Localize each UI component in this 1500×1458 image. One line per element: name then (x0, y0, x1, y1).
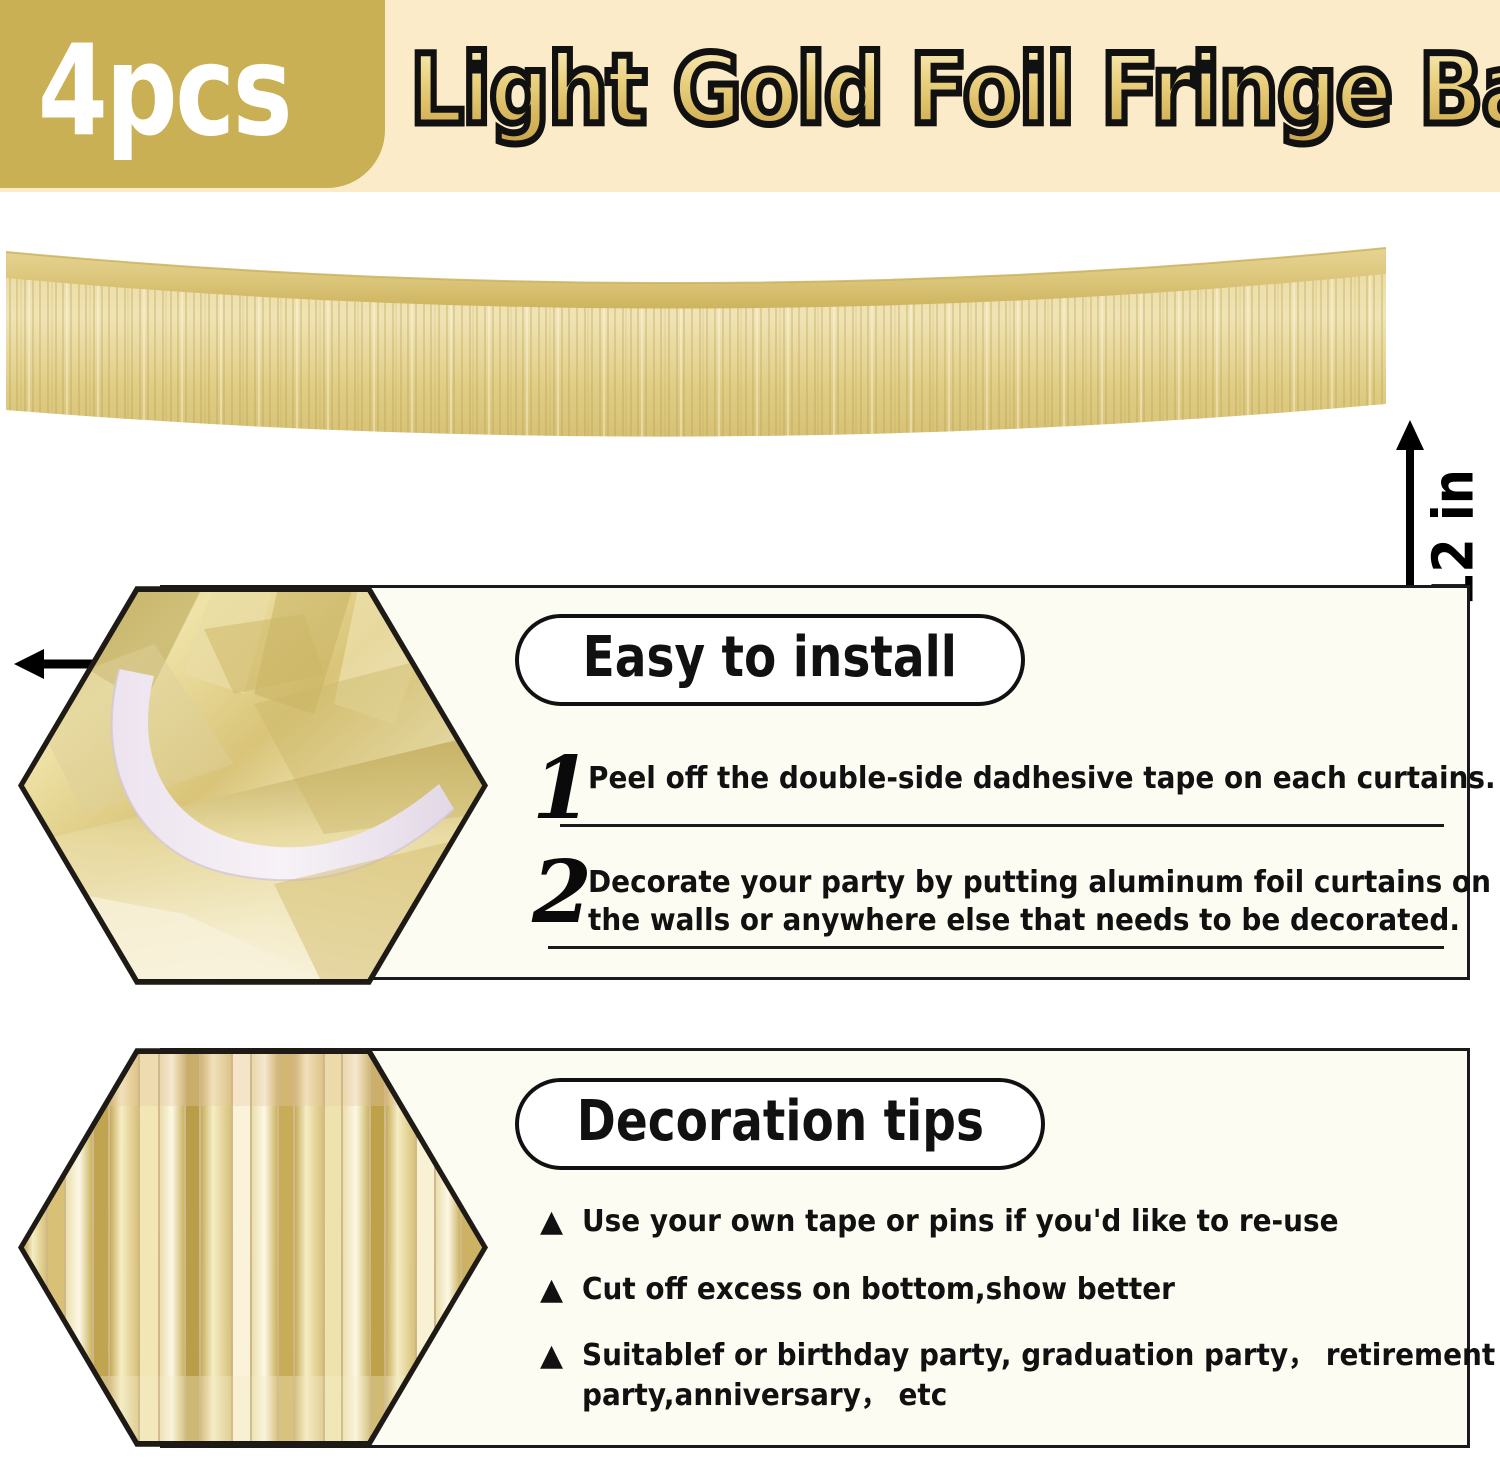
tip-item-3: ▲ Suitablef or birthday party, graduatio… (540, 1336, 1450, 1416)
tips-heading-pill: Decoration tips (515, 1078, 1045, 1170)
triangle-bullet-icon: ▲ (540, 1202, 582, 1242)
install-heading-text: Easy to install (583, 628, 957, 692)
triangle-bullet-icon: ▲ (540, 1270, 582, 1310)
tip-item-1: ▲ Use your own tape or pins if you'd lik… (540, 1202, 1450, 1242)
gold-foil-fringe-garland-image (6, 244, 1386, 449)
install-step-2-body: Decorate your party by putting aluminum … (588, 856, 1500, 940)
garland-illustration (6, 244, 1386, 449)
install-step-2-line-2: the walls or anywhere else that needs to… (588, 902, 1491, 940)
install-step-1-divider (560, 824, 1444, 827)
install-step-1-number: 1 (532, 752, 588, 826)
tip-item-1-line-1: Use your own tape or pins if you'd like … (582, 1202, 1339, 1242)
tip-item-2-body: Cut off excess on bottom,show better (582, 1270, 1220, 1310)
tips-heading-text: Decoration tips (576, 1092, 983, 1156)
tip-item-1-body: Use your own tape or pins if you'd like … (582, 1202, 1395, 1242)
install-step-2-number: 2 (532, 856, 588, 930)
product-image-area: 12 in 10 ft (0, 192, 1500, 562)
install-step-2-divider (548, 946, 1444, 949)
install-step-2-line-1: Decorate your party by putting aluminum … (588, 864, 1491, 902)
install-step-1-line-1: Peel off the double-side dadhesive tape … (588, 760, 1496, 798)
install-heading-pill: Easy to install (515, 614, 1025, 706)
header-banner: 4pcs Light Gold Foil Fringe Banner (0, 0, 1500, 192)
product-title-text: Light Gold Foil Fringe Banner (410, 34, 1500, 146)
tip-item-2-line-1: Cut off excess on bottom,show better (582, 1270, 1175, 1310)
tip-item-2: ▲ Cut off excess on bottom,show better (540, 1270, 1450, 1310)
product-title: Light Gold Foil Fringe Banner (410, 34, 1455, 164)
install-step-1-body: Peel off the double-side dadhesive tape … (588, 752, 1500, 798)
quantity-badge: 4pcs (0, 0, 385, 188)
tip-item-3-line-1: Suitablef or birthday party, graduation … (582, 1336, 1495, 1376)
quantity-badge-label: 4pcs (28, 6, 300, 176)
install-step-2: 2 Decorate your party by putting aluminu… (532, 856, 1442, 940)
triangle-bullet-icon: ▲ (540, 1336, 582, 1376)
tip-item-3-line-2: party,anniversary， etc (582, 1376, 1495, 1416)
tip-item-3-body: Suitablef or birthday party, graduation … (582, 1336, 1500, 1416)
install-step-1: 1 Peel off the double-side dadhesive tap… (532, 752, 1442, 826)
